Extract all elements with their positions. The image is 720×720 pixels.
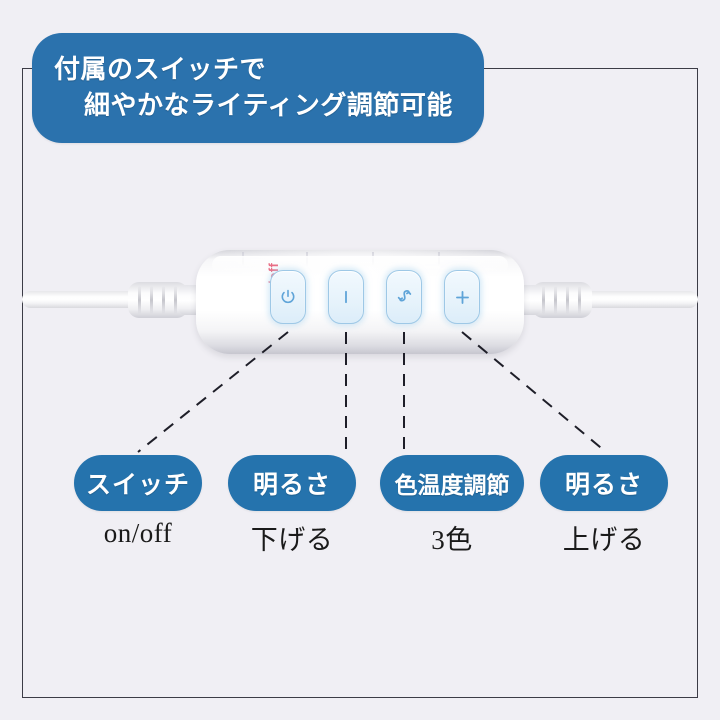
callout-subtitle: on/off [74, 518, 202, 549]
header-banner-line2: 細やかなライティング調節可能 [54, 88, 453, 124]
callout-row: スイッチ on/off 明るさ 下げる 色温度調節 3色 明るさ 上げる [0, 455, 720, 565]
brightness-down-icon [337, 288, 355, 306]
color-temperature-button[interactable] [386, 270, 422, 324]
callout-title: スイッチ [74, 455, 202, 511]
header-banner-line1: 付属のスイッチで [54, 52, 453, 88]
power-button[interactable] [270, 270, 306, 324]
header-banner-text: 付属のスイッチで 細やかなライティング調節可能 [32, 52, 453, 124]
header-banner: 付属のスイッチで 細やかなライティング調節可能 [32, 33, 484, 143]
callout-switch[interactable]: スイッチ on/off [74, 455, 202, 549]
callout-brightness-down[interactable]: 明るさ 下げる [228, 455, 356, 557]
brightness-down-button[interactable] [328, 270, 364, 324]
callout-subtitle: 3色 [380, 518, 524, 557]
switch-button-row [270, 270, 480, 326]
callout-subtitle: 上げる [540, 518, 668, 557]
callout-brightness-up[interactable]: 明るさ 上げる [540, 455, 668, 557]
callout-title: 明るさ [228, 455, 356, 511]
callout-color-temperature[interactable]: 色温度調節 3色 [380, 455, 524, 557]
color-temperature-icon [395, 288, 414, 307]
brightness-up-button[interactable] [444, 270, 480, 324]
brightness-up-icon [453, 288, 472, 307]
callout-title: 明るさ [540, 455, 668, 511]
callout-subtitle: 下げる [228, 518, 356, 557]
power-icon [279, 288, 297, 306]
callout-title: 色温度調節 [380, 455, 524, 511]
leader-line-switch [138, 332, 288, 452]
leader-line-brightness-up [462, 332, 606, 452]
